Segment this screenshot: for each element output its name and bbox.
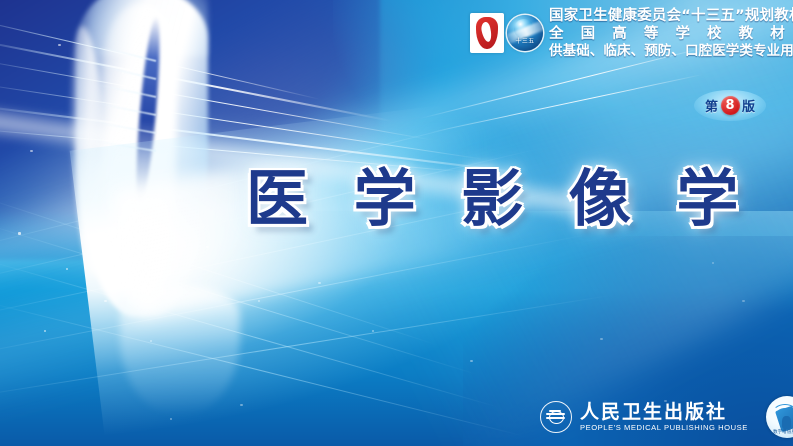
sparkle	[170, 418, 172, 420]
edition-suffix: 版	[742, 96, 755, 115]
sparkle	[712, 262, 714, 264]
header-line-2-char: 校	[707, 27, 722, 42]
globe-logo-label: 十三五	[507, 36, 543, 45]
book-cover: 十三五 国家卫生健康委员会“十三五”规划教材 全 国 高 等 学 校 教 材 供…	[0, 0, 793, 446]
header-line-2-char: 高	[612, 27, 627, 42]
header-line-1: 国家卫生健康委员会“十三五”规划教材	[549, 9, 793, 24]
header-line-2: 全 国 高 等 学 校 教 材	[549, 27, 785, 42]
header-line-3: 供基础、临床、预防、口腔医学类专业用	[549, 45, 793, 59]
glowing-body-figure	[28, 0, 268, 406]
sparkle	[600, 338, 603, 340]
header-line-2-char: 全	[549, 27, 564, 42]
header-line-2-char: 等	[644, 27, 659, 42]
sparkle	[372, 330, 374, 332]
sparkle	[318, 282, 321, 284]
pmph-red-logo-icon	[470, 13, 504, 53]
header-line-2-char: 学	[675, 27, 690, 42]
header-line-2-char: 材	[770, 27, 785, 42]
digital-service-badge-label: 数字增值服务	[766, 429, 793, 435]
header-logos: 十三五	[470, 8, 543, 53]
figure-reflection	[120, 286, 240, 416]
sparkle	[470, 360, 473, 362]
edition-prefix: 第	[705, 96, 718, 115]
sparkle	[742, 300, 745, 302]
publisher-footer: 人民卫生出版社 PEOPLE'S MEDICAL PUBLISHING HOUS…	[540, 396, 793, 438]
edition-number: 8	[721, 96, 740, 115]
digital-service-badge-icon: 数字增值服务	[766, 396, 793, 438]
edition-badge: 第 8 版	[694, 90, 766, 121]
publisher-names: 人民卫生出版社 PEOPLE'S MEDICAL PUBLISHING HOUS…	[580, 403, 748, 432]
sparkle	[18, 232, 21, 235]
publisher-name-en: PEOPLE'S MEDICAL PUBLISHING HOUSE	[580, 424, 748, 432]
book-main-title: 医 学 影 像 学	[246, 168, 750, 230]
publisher-name-cn: 人民卫生出版社	[580, 403, 748, 422]
publisher-emblem-icon	[540, 401, 572, 433]
header-block: 十三五 国家卫生健康委员会“十三五”规划教材 全 国 高 等 学 校 教 材 供…	[470, 8, 785, 70]
globe-logo-icon: 十三五	[507, 15, 543, 51]
header-line-2-char: 教	[739, 27, 754, 42]
header-title-lines: 国家卫生健康委员会“十三五”规划教材 全 国 高 等 学 校 教 材 供基础、临…	[549, 8, 793, 59]
header-line-2-char: 国	[581, 27, 596, 42]
